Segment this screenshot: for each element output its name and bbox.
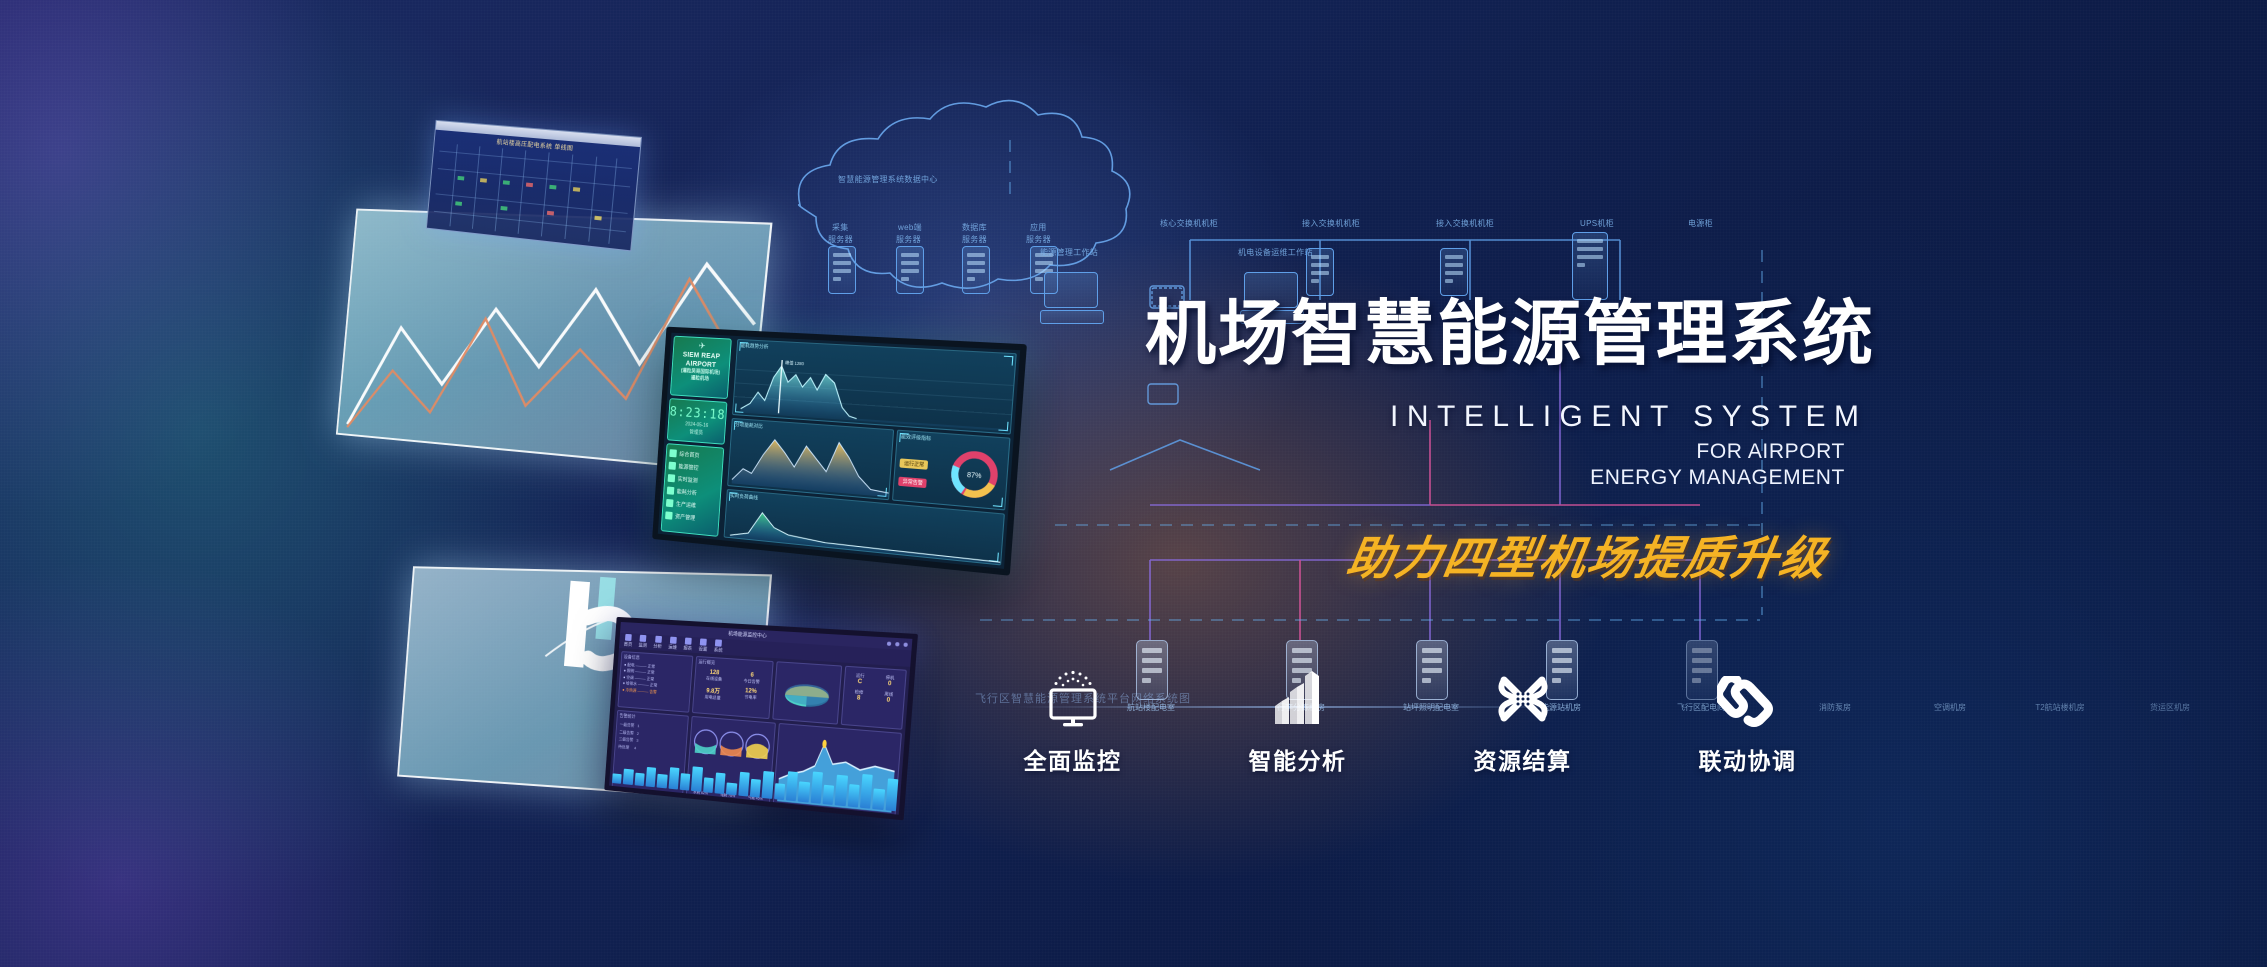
fullscreen-icon[interactable]	[903, 642, 907, 646]
analysis-icon	[667, 486, 675, 494]
feature-label: 联动协调	[1699, 742, 1797, 776]
menu-label: 综合首页	[679, 450, 700, 459]
energy-compare-panel: 分项能耗对比	[727, 418, 894, 500]
scada-window: 航站楼高压配电系统 单线图	[426, 120, 642, 252]
nav-item-3[interactable]: 运维	[668, 637, 678, 651]
nav-item-0[interactable]: 首页	[624, 634, 633, 648]
bar-chart-icon	[1269, 672, 1327, 728]
user-icon[interactable]	[887, 641, 891, 645]
banner-root: 智慧能源管理系统数据中心 采集 服务器 web端 服务器 数据库 服务器 应用 …	[0, 0, 2267, 967]
current-user: 管理员	[689, 428, 703, 436]
overview-box: 运行概览 128在线设备 6今日告警 9.8万用电总量 12%节电率	[692, 656, 773, 719]
purple-dashboard[interactable]: 机场能源监控中心 首页 监测 分析 运维 报表 设置 系统 设备信息 ● 配电 …	[604, 617, 918, 821]
device-info-box: 设备信息 ● 配电 ——— 正常● 照明 ——— 正常 ● 空调 ——— 正常●…	[617, 651, 693, 713]
kpi-grid: 128在线设备 6今日告警 9.8万用电总量 12%节电率	[694, 667, 772, 707]
menu-item-2[interactable]: 实时监测	[668, 474, 719, 486]
clock-card: 8:23:18 2024-05-16 管理员	[667, 398, 728, 445]
tag-alarm: 异常告警	[898, 477, 927, 488]
airport-name-en: SIEM REAP AIRPORT	[676, 349, 726, 369]
resource-knot-icon	[1494, 672, 1552, 728]
nav-item-6[interactable]: 系统	[714, 639, 724, 653]
menu-item-3[interactable]: 能耗分析	[667, 486, 718, 498]
feature-list: 全面监控 智能分析	[960, 672, 1860, 776]
kpi-label: 在线设备	[706, 675, 722, 681]
asset-icon	[665, 511, 673, 519]
menu-label: 实时监测	[677, 475, 698, 484]
page-title: 机场智慧能源管理系统	[1145, 277, 1875, 379]
settings-icon[interactable]	[895, 642, 899, 646]
slogan: 助力四型机场提质升级	[1343, 522, 1833, 588]
status-box: 运行 C停机 0 检修 8离线 0	[841, 666, 907, 730]
feature-label: 全面监控	[1024, 742, 1122, 776]
menu-label: 资产管理	[675, 512, 696, 522]
nav-item-2[interactable]: 分析	[653, 636, 662, 650]
subtitle-en: INTELLIGENT SYSTEM	[1390, 400, 1868, 434]
feature-item-monitor[interactable]: 全面监控	[960, 672, 1185, 776]
menu-label: 能源管控	[678, 462, 699, 471]
home-icon	[669, 449, 677, 457]
pie-chart-box	[772, 661, 842, 724]
control-icon	[668, 462, 676, 470]
kpi-label: 节电率	[744, 694, 757, 700]
clock-date: 2024-05-16	[685, 421, 708, 428]
nav-item-5[interactable]: 设置	[698, 638, 708, 652]
tag-normal: 运行正常	[900, 458, 929, 469]
menu-item-5[interactable]: 资产管理	[665, 511, 716, 524]
menu-label: 能耗分析	[677, 487, 698, 497]
link-wave-icon	[1717, 672, 1779, 728]
subtitle-line3: ENERGY MANAGEMENT	[1590, 466, 1845, 490]
airport-logo-card: ✈ SIEM REAP AIRPORT (暹粒吴哥国际机场) 暹粒机场	[670, 336, 732, 399]
monitor-signal-icon	[1041, 672, 1105, 728]
menu-label: 生产运维	[676, 500, 697, 510]
ops-icon	[666, 499, 674, 507]
menu-item-1[interactable]: 能源管控	[668, 462, 719, 474]
subtitle-line2: FOR AIRPORT	[1696, 440, 1845, 464]
nav-item-4[interactable]: 报表	[683, 637, 693, 651]
efficiency-gauge-panel: 能效评级指标 运行正常 异常告警 87%	[892, 430, 1010, 511]
feature-label: 智能分析	[1249, 742, 1347, 776]
sidebar-menu[interactable]: 综合首页 能源管控 实时监测 能耗分析 生产运维 资产管理	[661, 443, 725, 537]
feature-label: 资源结算	[1474, 742, 1572, 776]
kpi-label: 今日告警	[743, 678, 760, 684]
clock-time: 8:23:18	[669, 405, 726, 423]
teal-dashboard[interactable]: ✈ SIEM REAP AIRPORT (暹粒吴哥国际机场) 暹粒机场 8:23…	[652, 327, 1027, 576]
monitor-icon	[668, 474, 676, 482]
kpi-label: 用电总量	[705, 694, 721, 700]
peak-label: 峰值 1280	[785, 360, 804, 367]
menu-item-0[interactable]: 综合首页	[669, 449, 720, 461]
gauge-value: 87%	[967, 472, 982, 481]
feature-item-coordination[interactable]: 联动协调	[1635, 672, 1860, 776]
feature-item-analysis[interactable]: 智能分析	[1185, 672, 1410, 776]
network-topology-background: 智慧能源管理系统数据中心 采集 服务器 web端 服务器 数据库 服务器 应用 …	[0, 0, 2267, 967]
menu-item-4[interactable]: 生产运维	[666, 499, 717, 511]
feature-item-settlement[interactable]: 资源结算	[1410, 672, 1635, 776]
nav-item-1[interactable]: 监测	[638, 635, 647, 649]
